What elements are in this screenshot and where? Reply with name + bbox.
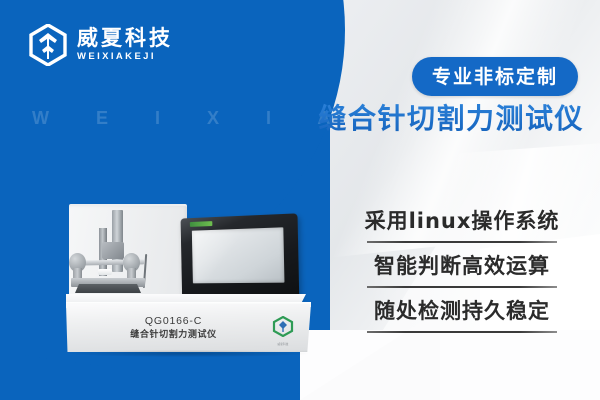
machine-front-label: QG0166-C 缝合针切割力测试仪: [66, 315, 281, 342]
machine-badge-subtext: 威夏科技: [269, 343, 297, 347]
feature-divider: [367, 286, 557, 288]
feature-item: 随处检测持久稳定: [338, 295, 586, 333]
page-title: 缝合针切割力测试仪: [318, 97, 584, 137]
machine-model-number: QG0166-C: [66, 315, 281, 328]
fixture-sample: [98, 269, 112, 275]
screen-glare: [192, 227, 285, 283]
touchscreen-panel[interactable]: [181, 213, 300, 300]
green-hexagon-logo-icon: [272, 324, 294, 341]
feature-text: 随处检测持久稳定: [338, 295, 586, 325]
fixture-head-block: [102, 242, 124, 259]
fixture-base: [75, 284, 141, 293]
product-image: QG0166-C 缝合针切割力测试仪 威夏科技: [66, 198, 331, 358]
feature-item: 智能判断高效运算: [338, 250, 586, 288]
feature-text: 采用linux操作系统: [338, 205, 586, 235]
machine-brand-badge: 威夏科技: [269, 316, 297, 346]
brand-name-cn: 威夏科技: [77, 28, 173, 49]
feature-list: 采用linux操作系统 智能判断高效运算 随处检测持久稳定: [338, 205, 586, 340]
badge-custom-manufacturing: 专业非标定制: [412, 57, 578, 96]
feature-item: 采用linux操作系统: [338, 205, 586, 243]
machine-name: 缝合针切割力测试仪: [66, 328, 281, 342]
screen-brand-tag-icon: [190, 221, 213, 227]
feature-divider: [367, 331, 557, 333]
feature-divider: [367, 241, 557, 243]
hexagon-shield-icon: [28, 24, 68, 66]
feature-text: 智能判断高效运算: [338, 250, 586, 280]
brand-logo: 威夏科技 WEIXIAKEJI: [28, 24, 173, 66]
brand-name-en: WEIXIAKEJI: [77, 52, 173, 62]
machine-shadow: [70, 350, 308, 357]
brand-logo-text: 威夏科技 WEIXIAKEJI: [77, 28, 173, 62]
promo-banner: W E I X I A K E J I 威夏科技 WEIXIAKEJI 专业非标…: [0, 0, 600, 400]
